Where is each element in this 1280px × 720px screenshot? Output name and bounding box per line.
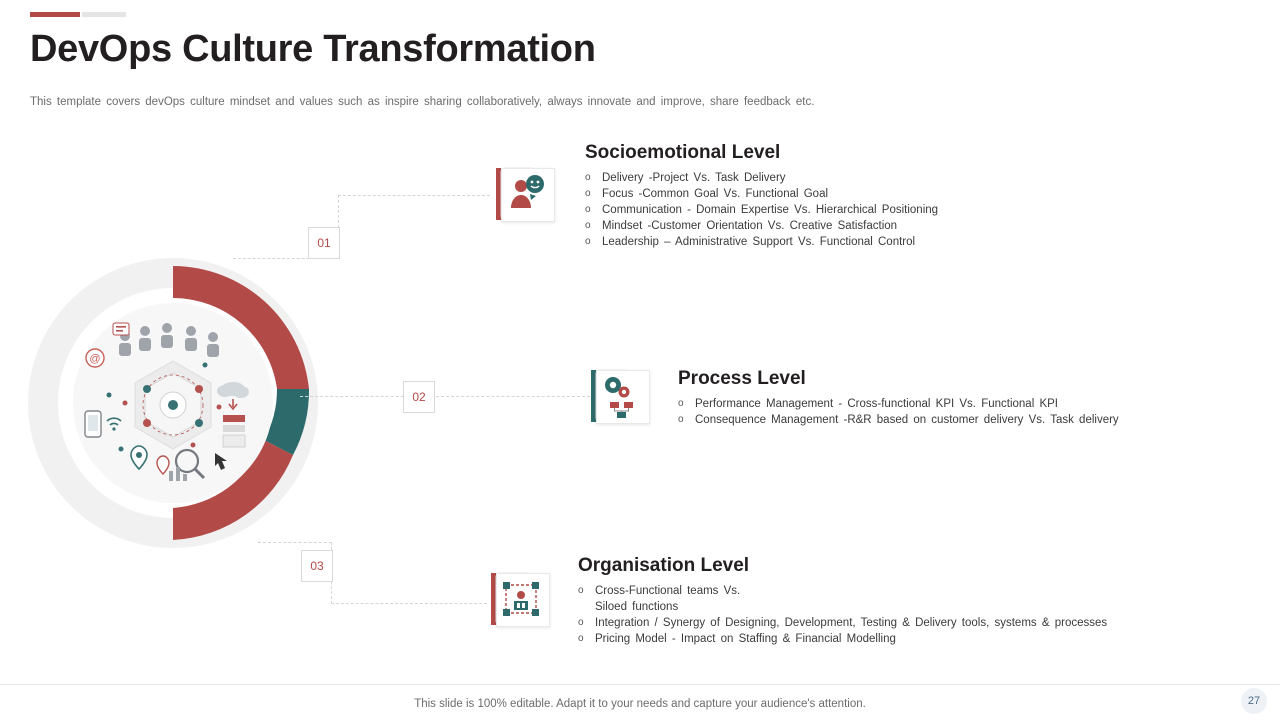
circular-infographic: @ <box>28 258 318 548</box>
slide-canvas: DevOps Culture Transformation This templ… <box>0 0 1280 720</box>
footer-note: This slide is 100% editable. Adapt it to… <box>0 698 1280 710</box>
icon-box-organisation[interactable] <box>485 567 549 631</box>
accent-bar-grey <box>82 12 126 17</box>
block-title-organisation: Organisation Level <box>578 555 749 577</box>
person-feedback-glyph <box>501 168 553 220</box>
bullet-item: Integration / Synergy of Designing, Deve… <box>578 615 1218 631</box>
badge-01[interactable]: 01 <box>308 227 340 259</box>
icon-box-socioemotional[interactable] <box>490 162 554 226</box>
bullet-item: Leadership – Administrative Support Vs. … <box>585 234 1205 250</box>
connector-line-03-c <box>258 542 332 543</box>
bullet-item: Delivery -Project Vs. Task Delivery <box>585 170 1205 186</box>
svg-text:@: @ <box>89 353 100 365</box>
accent-bar-red <box>30 12 80 17</box>
bullet-item: Cross-Functional teams Vs. Siloed functi… <box>578 583 1218 615</box>
bullets-organisation: Cross-Functional teams Vs. Siloed functi… <box>578 583 1218 647</box>
page-number-badge: 27 <box>1241 688 1267 714</box>
bullets-socioemotional: Delivery -Project Vs. Task Delivery Focu… <box>585 170 1205 250</box>
organisation-network-glyph <box>496 573 548 625</box>
connector-line-03-a <box>331 603 487 604</box>
connector-line-01-a <box>338 195 490 196</box>
bullet-item: Consequence Management -R&R based on cus… <box>678 412 1280 428</box>
bullet-item: Performance Management - Cross-functiona… <box>678 396 1280 412</box>
block-title-socioemotional: Socioemotional Level <box>585 142 780 164</box>
icon-box-process[interactable] <box>585 364 649 428</box>
footer-divider <box>0 684 1280 685</box>
badge-02[interactable]: 02 <box>403 381 435 413</box>
page-title: DevOps Culture Transformation <box>30 28 596 71</box>
bullet-item: Focus -Common Goal Vs. Functional Goal <box>585 186 1205 202</box>
bullet-item: Communication - Domain Expertise Vs. Hie… <box>585 202 1205 218</box>
technology-collage-illustration: @ <box>73 303 273 503</box>
process-gear-glyph <box>596 370 648 422</box>
bullets-process: Performance Management - Cross-functiona… <box>678 396 1280 428</box>
bullet-item: Pricing Model - Impact on Staffing & Fin… <box>578 631 1218 647</box>
block-title-process: Process Level <box>678 368 806 390</box>
bullet-item: Mindset -Customer Orientation Vs. Creati… <box>585 218 1205 234</box>
page-subtitle: This template covers devOps culture mind… <box>30 96 814 108</box>
badge-03[interactable]: 03 <box>301 550 333 582</box>
connector-line-02 <box>300 396 590 397</box>
